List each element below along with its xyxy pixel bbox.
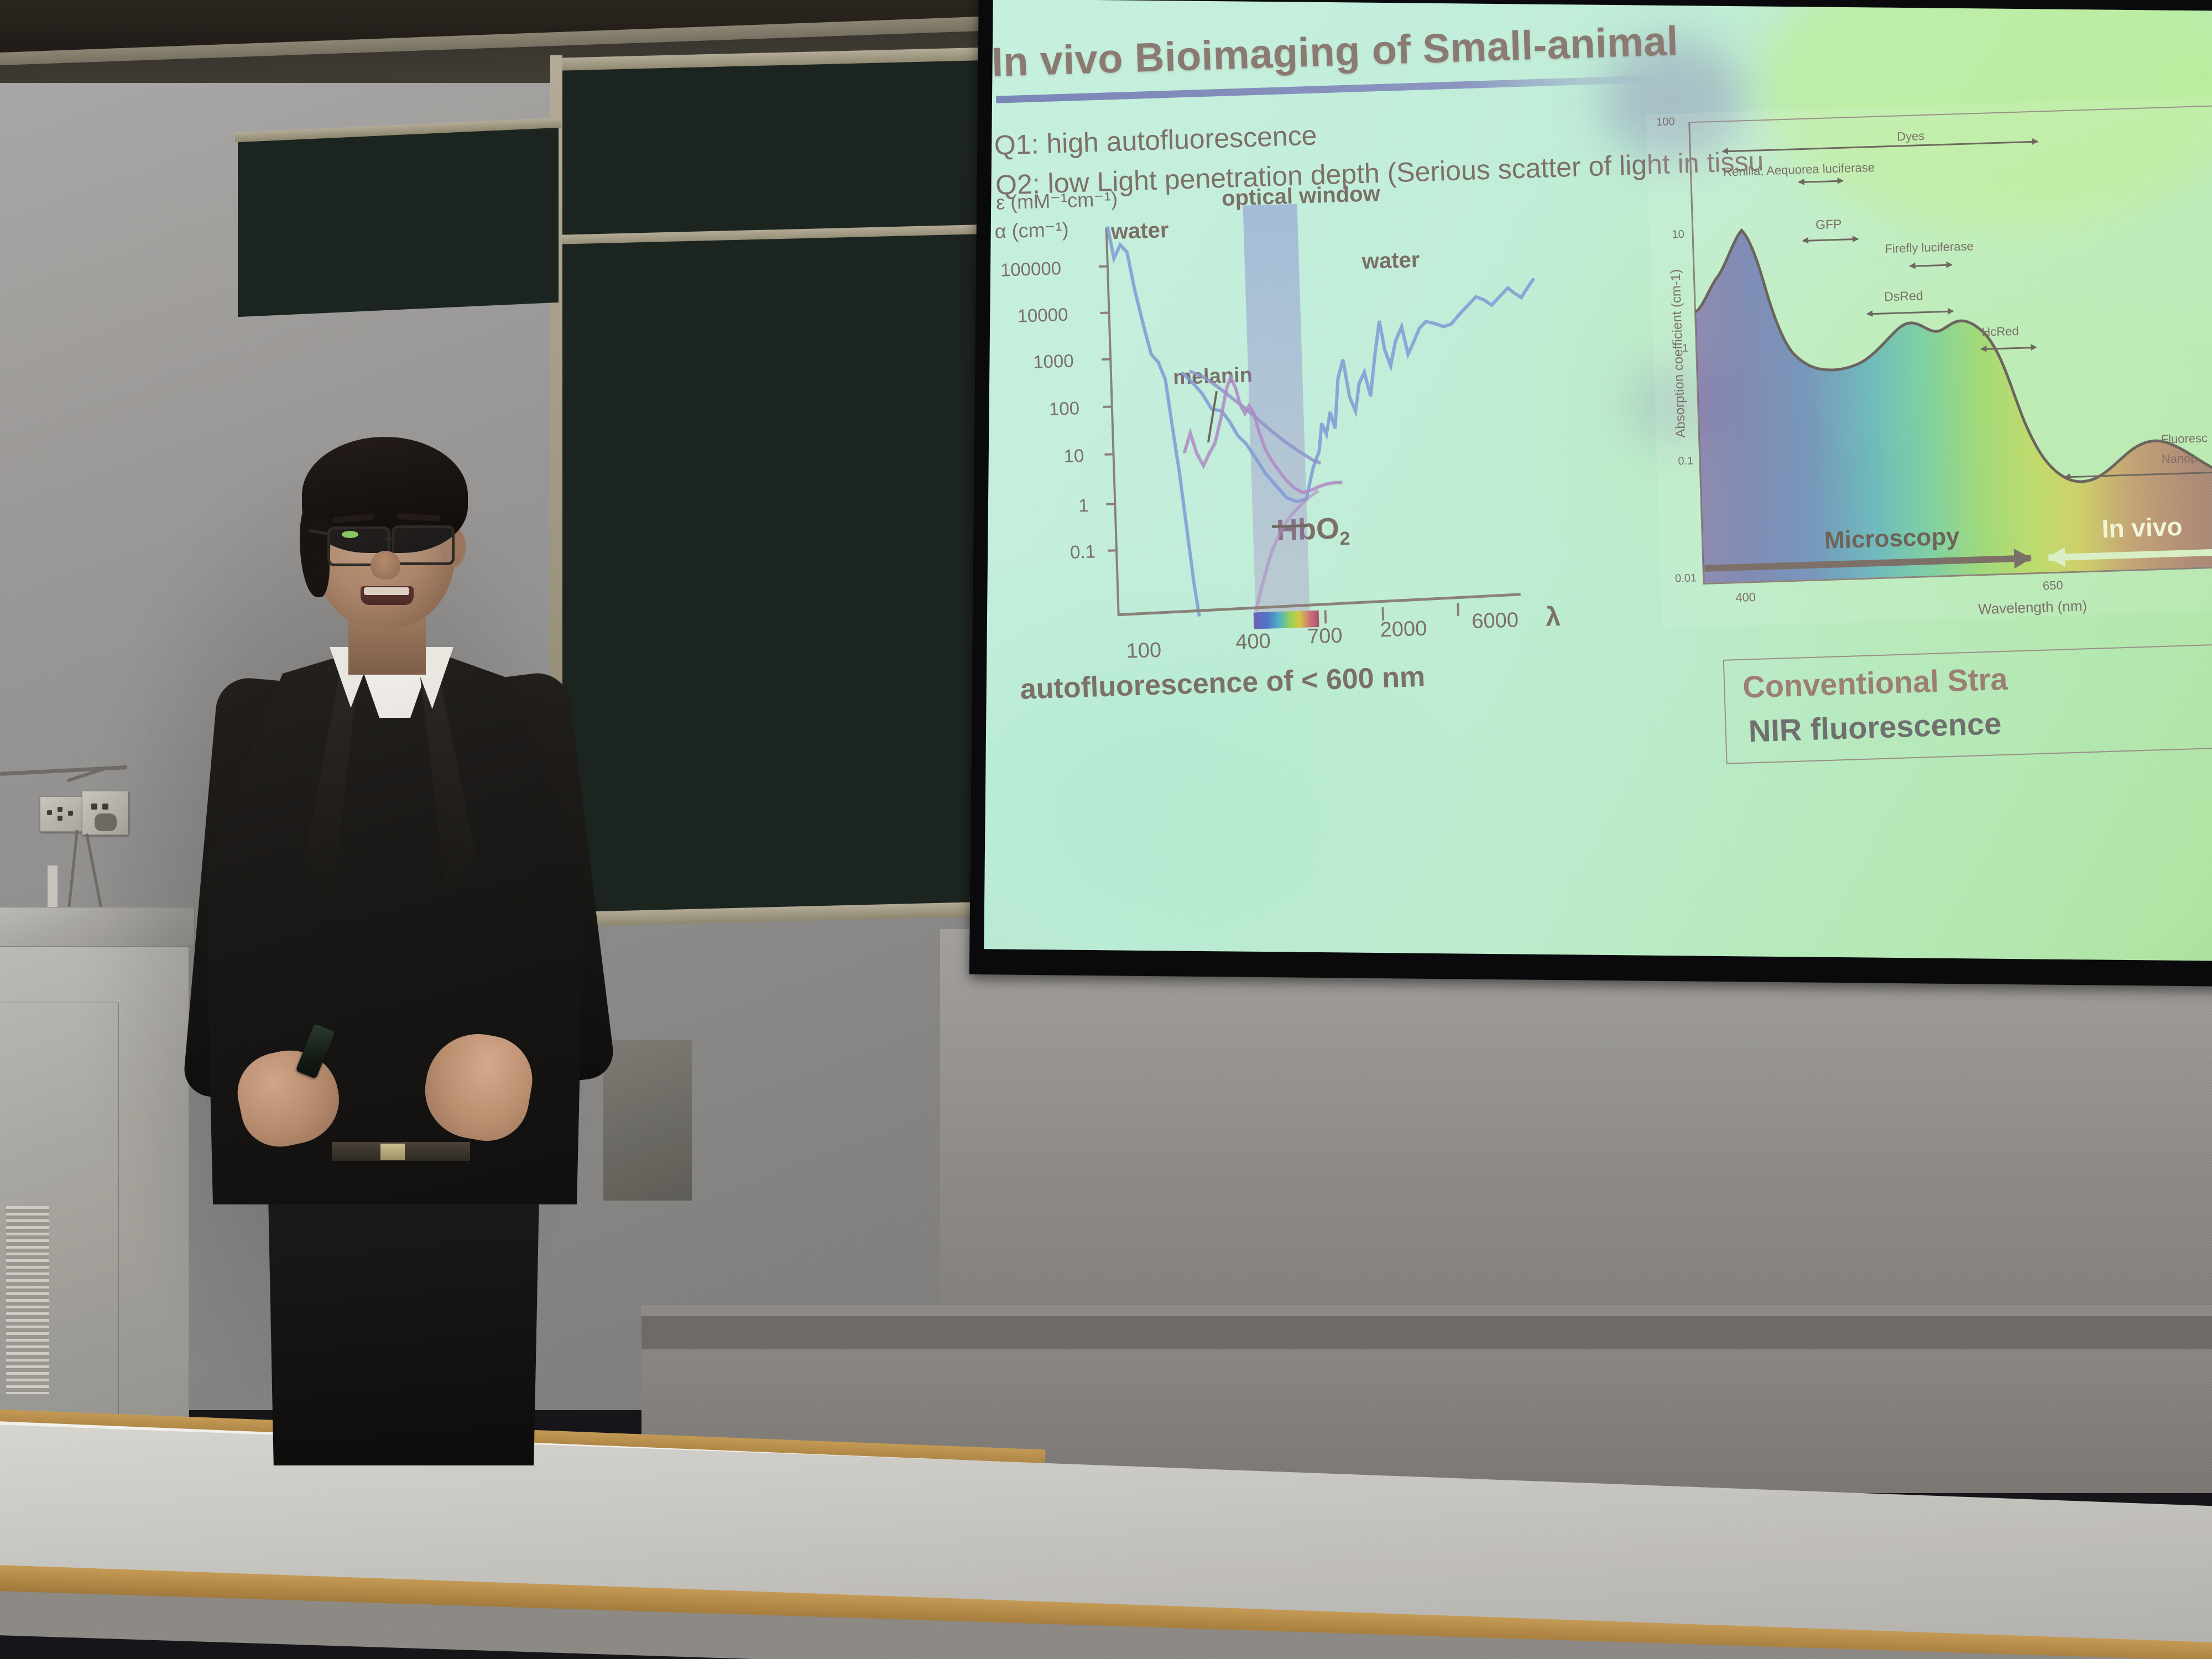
slide-title: In vivo Bioimaging of Small-animal: [991, 17, 1679, 86]
socket-pin-hole: [47, 810, 52, 815]
slide-question-1: Q1: high autofluorescence: [994, 119, 1317, 161]
blackboard-sidepanel: [238, 126, 559, 317]
cabinet-vent-louvers: [6, 1206, 49, 1394]
presenter-nose: [371, 551, 400, 580]
eyeglass-bridge: [385, 538, 395, 540]
chart2-xlabel: Wavelength (nm): [1978, 597, 2088, 618]
chart1-xtick: 2000: [1380, 617, 1427, 643]
chart2-regime-label-invivo: In vivo: [2101, 512, 2183, 544]
chart2-range-label-dsred: DsRed: [1884, 288, 1923, 304]
chart2-range-label-gfp: GFP: [1815, 217, 1842, 232]
eyeglass-lens-right: [392, 525, 455, 565]
chart2-range-label-hcred: HcRed: [1981, 324, 2019, 340]
chart-absorption-coefficient: 100 10 1 0.1 0.01 Absorption coefficient…: [1646, 96, 2212, 629]
chart2-range-label-dyes: Dyes: [1897, 129, 1925, 144]
chart1-curves: [1001, 181, 1635, 643]
wall-socket-left[interactable]: [40, 796, 82, 832]
presenter: [166, 420, 724, 1449]
chart1-xtick: 6000: [1472, 608, 1519, 634]
curve-water: [1108, 224, 1199, 619]
socket-pin-hole: [58, 807, 62, 812]
slide-content: In vivo Bioimaging of Small-animal Q1: h…: [984, 0, 2212, 961]
presenter-mouth: [361, 586, 414, 605]
chart-tissue-absorption: ε (mM⁻¹cm⁻¹) α (cm⁻¹) optical window wat…: [1001, 181, 1638, 759]
chart2-xtick: 650: [2042, 578, 2063, 593]
presenter-teeth: [364, 587, 409, 595]
chart2-range-label-firefly: Firefly luciferase: [1885, 239, 1974, 256]
chart2-regime-label-microscopy: Microscopy: [1824, 523, 1960, 555]
chart1-xlabel: λ: [1545, 602, 1561, 633]
curve-hbo2-tail: [1252, 491, 1322, 612]
chart1-xtick-mark: [1457, 603, 1459, 616]
chart1-caption: autofluorescence of < 600 nm: [1020, 660, 1426, 706]
projection-screen: In vivo Bioimaging of Small-animal Q1: h…: [984, 0, 2212, 961]
chart2-xtick: 400: [1735, 590, 1756, 605]
curve-water-ir: [1179, 278, 1541, 505]
chart2-range-label-nano-line2: Nanop: [2161, 451, 2198, 467]
stage-riser: [641, 1316, 2212, 1349]
screenshot-root: In vivo Bioimaging of Small-animal Q1: h…: [0, 0, 2212, 1659]
socket-pin-hole: [68, 811, 73, 816]
eyeglass-reflection: [342, 531, 358, 538]
belt-buckle: [380, 1144, 405, 1160]
hbo2-leader-line: [1272, 525, 1308, 526]
chart1-xtick: 400: [1235, 630, 1271, 655]
chart2-range-label-nano-line1: Fluoresc: [2161, 431, 2208, 447]
chart1-xtick: 700: [1307, 624, 1343, 649]
chart1-xtick: 100: [1126, 639, 1162, 664]
projection-screen-frame: In vivo Bioimaging of Small-animal Q1: h…: [969, 0, 2212, 987]
curve-hbo2: [1182, 374, 1343, 496]
blackboard-upper: [559, 60, 1001, 242]
socket-pin-hole: [58, 816, 62, 821]
presenter-sideburn: [300, 498, 330, 597]
chart1-xtick-mark: [1324, 610, 1327, 623]
